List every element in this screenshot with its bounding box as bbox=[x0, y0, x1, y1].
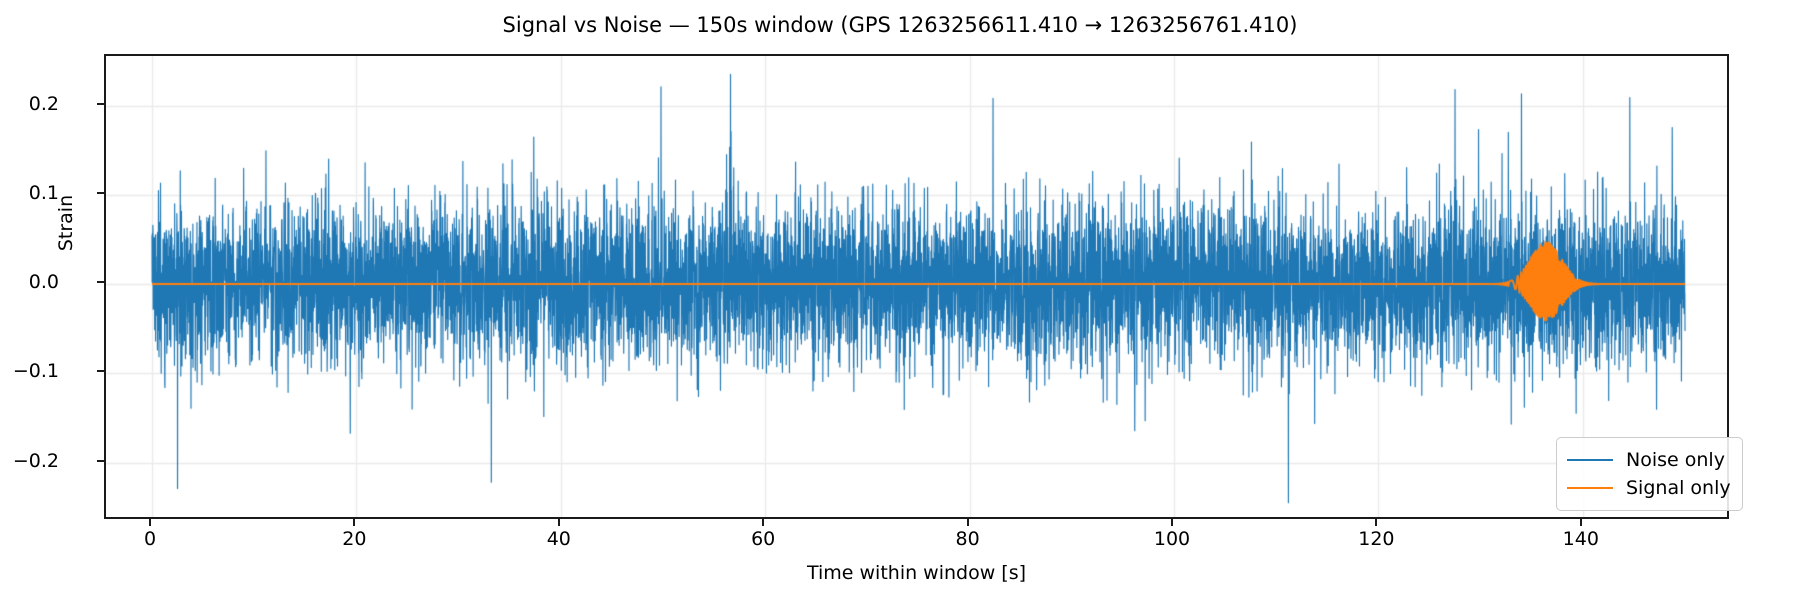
x-axis-tick-mark bbox=[1375, 519, 1377, 526]
y-axis-tick-mark bbox=[97, 281, 104, 283]
legend-item[interactable]: Signal only bbox=[1567, 474, 1731, 502]
x-axis-tick-mark bbox=[149, 519, 151, 526]
x-axis-label: Time within window [s] bbox=[104, 562, 1729, 584]
x-axis-tick-label: 80 bbox=[908, 528, 1028, 550]
chart-title: Signal vs Noise — 150s window (GPS 12632… bbox=[0, 13, 1800, 37]
legend-item[interactable]: Noise only bbox=[1567, 446, 1731, 474]
x-axis-tick-label: 20 bbox=[294, 528, 414, 550]
y-axis-tick-label: 0.1 bbox=[0, 182, 59, 204]
y-axis-tick-mark bbox=[97, 192, 104, 194]
legend-line-swatch bbox=[1567, 487, 1613, 489]
y-axis-tick-label: 0.0 bbox=[0, 271, 59, 293]
chart-figure: Signal vs Noise — 150s window (GPS 12632… bbox=[0, 0, 1800, 600]
x-axis-tick-label: 40 bbox=[499, 528, 619, 550]
chart-legend: Noise onlySignal only bbox=[1556, 437, 1743, 511]
plot-area bbox=[104, 54, 1729, 519]
x-axis-tick-mark bbox=[1580, 519, 1582, 526]
y-axis-tick-mark bbox=[97, 370, 104, 372]
legend-item-label: Signal only bbox=[1626, 477, 1731, 499]
y-axis-tick-label: 0.2 bbox=[0, 93, 59, 115]
y-axis-tick-mark bbox=[97, 103, 104, 105]
y-axis-label: Strain bbox=[55, 113, 77, 333]
signal-noise-timeseries-canvas bbox=[106, 56, 1729, 519]
legend-item-label: Noise only bbox=[1626, 449, 1725, 471]
y-axis-tick-label: −0.2 bbox=[0, 450, 59, 472]
y-axis-tick-label: −0.1 bbox=[0, 360, 59, 382]
x-axis-tick-mark bbox=[1171, 519, 1173, 526]
x-axis-tick-mark bbox=[353, 519, 355, 526]
x-axis-tick-label: 60 bbox=[703, 528, 823, 550]
x-axis-tick-mark bbox=[762, 519, 764, 526]
x-axis-tick-mark bbox=[558, 519, 560, 526]
x-axis-tick-label: 140 bbox=[1521, 528, 1641, 550]
y-axis-tick-mark bbox=[97, 460, 104, 462]
legend-line-swatch bbox=[1567, 459, 1613, 461]
x-axis-tick-label: 100 bbox=[1112, 528, 1232, 550]
x-axis-tick-mark bbox=[967, 519, 969, 526]
x-axis-tick-label: 0 bbox=[90, 528, 210, 550]
x-axis-tick-label: 120 bbox=[1316, 528, 1436, 550]
